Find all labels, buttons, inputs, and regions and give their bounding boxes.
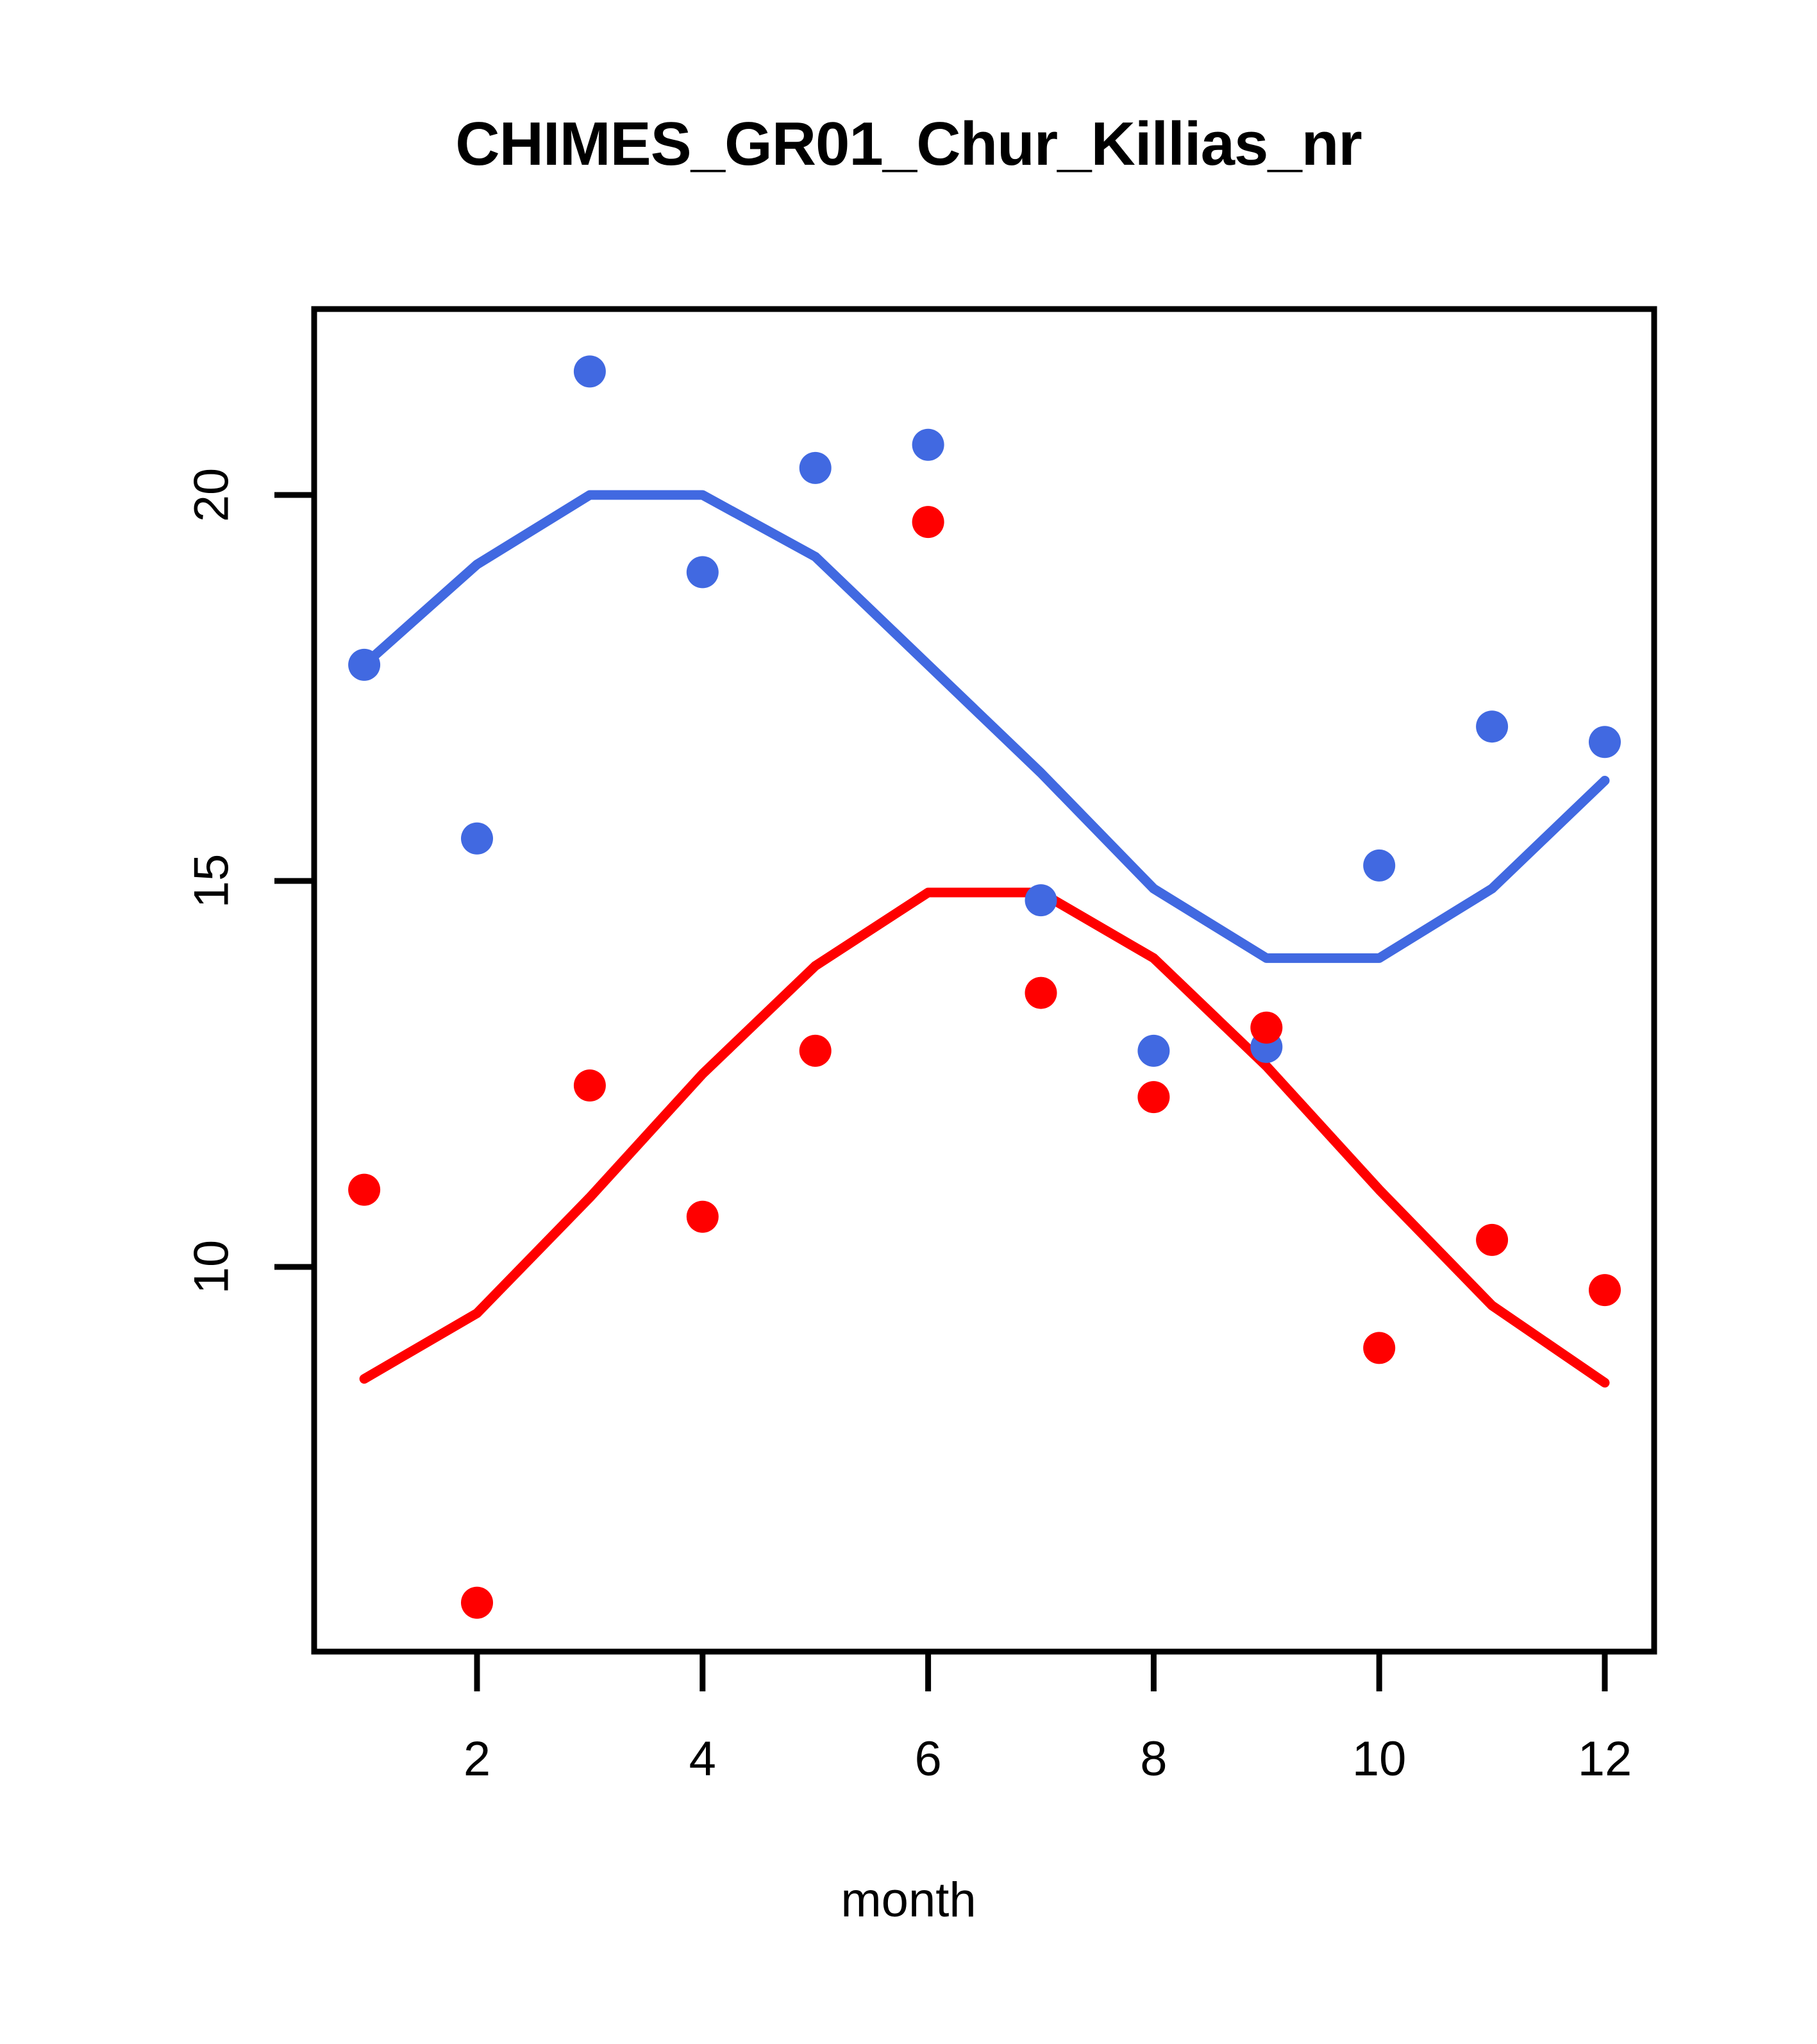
data-point [574, 355, 606, 387]
y-tick-label: 15 [184, 854, 240, 909]
data-point [348, 1174, 380, 1206]
x-tick-label: 6 [914, 1731, 941, 1787]
data-point [1476, 1224, 1508, 1256]
data-point [687, 1201, 719, 1233]
data-point [1363, 850, 1395, 882]
x-tick-label: 10 [1352, 1731, 1407, 1787]
data-point [1589, 1274, 1621, 1306]
data-point [461, 1587, 493, 1619]
data-point [1137, 1081, 1169, 1113]
data-point [912, 429, 944, 461]
data-point [687, 556, 719, 588]
data-point [912, 506, 944, 538]
data-point [1589, 726, 1621, 758]
plot-frame [314, 309, 1654, 1652]
y-tick-label: 20 [184, 468, 240, 523]
x-axis-ticks [477, 1652, 1605, 1691]
x-tick-label: 12 [1578, 1731, 1632, 1787]
y-axis-ticks [274, 495, 314, 1267]
x-tick-label: 8 [1140, 1731, 1167, 1787]
data-point [1025, 884, 1057, 916]
data-point [800, 452, 832, 484]
x-tick-label: 4 [689, 1731, 716, 1787]
data-point [1250, 1012, 1282, 1044]
x-axis-label: month [0, 1872, 1817, 1928]
y-tick-label: 10 [184, 1240, 240, 1294]
data-point [1476, 710, 1508, 742]
data-point [1137, 1035, 1169, 1067]
data-point [1025, 977, 1057, 1009]
series-lines-group [364, 495, 1605, 1383]
data-point [800, 1035, 832, 1067]
chart-svg [0, 0, 1817, 2044]
series-line-red-line [364, 892, 1605, 1383]
series-points-group [348, 355, 1621, 1618]
data-point [461, 823, 493, 855]
x-tick-label: 2 [464, 1731, 490, 1787]
data-point [348, 649, 380, 681]
plot-canvas: CHIMES_GR01_Chur_Killias_nr 101520 24681… [0, 0, 1817, 2044]
data-point [574, 1069, 606, 1102]
data-point [1363, 1332, 1395, 1364]
